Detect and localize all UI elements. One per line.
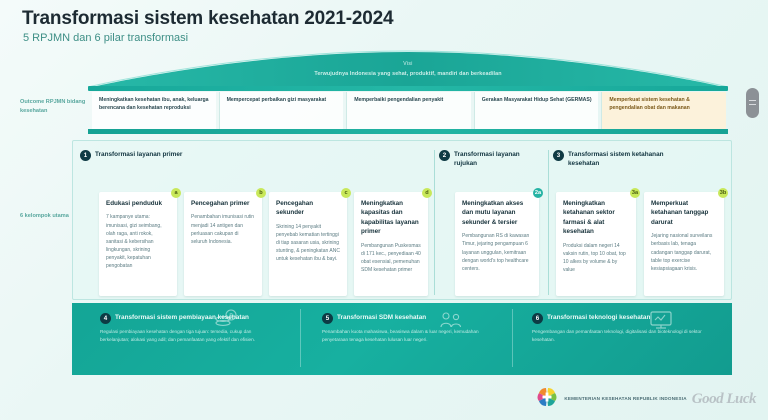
card-badge-2a: 2a xyxy=(533,188,543,198)
card-body-d: Pembangunan Puskesmas di 171 kec., penye… xyxy=(361,242,422,274)
pillar-divider-2 xyxy=(548,150,549,295)
pillar-head-3[interactable]: 3 Transformasi sistem ketahanan kesehata… xyxy=(553,150,678,169)
card-badge-3b: 3b xyxy=(718,188,728,198)
outcome-box-5[interactable]: Memperkuat sistem kesehatan & pengendali… xyxy=(601,92,726,130)
pillar-head-2[interactable]: 2 Transformasi layanan rujukan xyxy=(439,150,544,169)
card-akses-sekunder-tersier[interactable]: 2a Meningkatkan akses dan mutu layanan s… xyxy=(455,192,539,296)
pillar-body-4: Regulasi pembiayaan kesehatan dengan tig… xyxy=(100,328,275,344)
pillar-number-3: 3 xyxy=(553,150,564,161)
bottom-pillar-band: 4 Transformasi sistem pembiayaan kesehat… xyxy=(72,303,732,375)
card-tanggap-darurat[interactable]: 3b Memperkuat ketahanan tanggap darurat … xyxy=(644,192,724,296)
card-body-3b: Jejaring nasional surveilans berbasis la… xyxy=(651,232,718,272)
card-badge-c: c xyxy=(341,188,351,198)
pillar-title-3: Transformasi sistem ketahanan kesehatan xyxy=(568,150,678,169)
scrollbar-thumb[interactable] xyxy=(746,88,759,118)
pillar-6-head: 6 Transformasi teknologi kesehatan xyxy=(532,313,707,324)
pillar-title-1: Transformasi layanan primer xyxy=(95,150,182,159)
pillar-4-head: 4 Transformasi sistem pembiayaan kesehat… xyxy=(100,313,275,324)
card-badge-a: a xyxy=(171,188,181,198)
coin-stack-icon: $ xyxy=(215,309,237,334)
pillar-body-5: Penambahan kuota mahasiswa, beasiswa dal… xyxy=(322,328,497,344)
card-badge-d: d xyxy=(422,188,432,198)
outcome-underline xyxy=(88,129,728,134)
card-title-c: Pencegahan sekunder xyxy=(276,199,341,218)
pillar-number-1: 1 xyxy=(80,150,91,161)
vision-label: Visi xyxy=(88,61,728,67)
pillar-6[interactable]: 6 Transformasi teknologi kesehatan Penge… xyxy=(532,313,707,344)
card-body-a: 7 kampanye utama: imunisasi, gizi seimba… xyxy=(106,213,171,270)
pillar-number-4: 4 xyxy=(100,313,111,324)
ministry-name: KEMENTERIAN KESEHATAN REPUBLIK INDONESIA xyxy=(564,396,686,403)
pillar-5[interactable]: 5 Transformasi SDM kesehatan Penambahan … xyxy=(322,313,497,344)
pillar-title-2: Transformasi layanan rujukan xyxy=(454,150,544,169)
thumb-grip-line xyxy=(749,100,756,101)
outcome-box-2[interactable]: Mempercepat perbaikan gizi masyarakat xyxy=(219,92,344,130)
card-title-3a: Meningkatkan ketahanan sektor farmasi & … xyxy=(563,199,630,237)
pillar-5-head: 5 Transformasi SDM kesehatan xyxy=(322,313,497,324)
card-pencegahan-primer[interactable]: b Pencegahan primer Penambahan imunisasi… xyxy=(184,192,262,296)
bottom-divider-2 xyxy=(512,309,513,367)
card-pencegahan-sekunder[interactable]: c Pencegahan sekunder Skrining 14 penyak… xyxy=(269,192,347,296)
outcome-box-3[interactable]: Memperbaiki pengendalian penyakit xyxy=(346,92,471,130)
card-body-c: Skrining 14 penyakit penyebab kematian t… xyxy=(276,223,341,263)
roof-bar xyxy=(88,86,728,91)
moh-logo-icon xyxy=(535,385,559,414)
card-title-a: Edukasi penduduk xyxy=(106,199,171,208)
card-farmasi-alkes[interactable]: 3a Meningkatkan ketahanan sektor farmasi… xyxy=(556,192,636,296)
svg-text:$: $ xyxy=(229,314,233,320)
outcome-box-4[interactable]: Gerakan Masyarakat Hidup Sehat (GERMAS) xyxy=(474,92,599,130)
vision-statement: Terwujudnya Indonesia yang sehat, produk… xyxy=(118,71,698,77)
card-badge-b: b xyxy=(256,188,266,198)
pillar-title-5: Transformasi SDM kesehatan xyxy=(337,313,426,322)
pillar-4[interactable]: 4 Transformasi sistem pembiayaan kesehat… xyxy=(100,313,275,344)
card-title-3b: Memperkuat ketahanan tanggap darurat xyxy=(651,199,718,227)
page-subtitle: 5 RPJMN dan 6 pilar transformasi xyxy=(23,32,188,44)
card-title-d: Meningkatkan kapasitas dan kapabilitas l… xyxy=(361,199,422,237)
card-body-b: Penambahan imunisasi rutin menjadi 14 an… xyxy=(191,213,256,245)
outcome-box-1[interactable]: Meningkatkan kesehatan ibu, anak, keluar… xyxy=(92,92,216,130)
page-title: Transformasi sistem kesehatan 2021-2024 xyxy=(22,8,393,30)
card-body-3a: Produksi dalam negeri 14 vaksin rutin, t… xyxy=(563,242,630,274)
pillar-head-1[interactable]: 1 Transformasi layanan primer xyxy=(80,150,240,161)
monitor-icon xyxy=(649,310,673,335)
thumb-grip-line xyxy=(749,104,756,105)
pillar-divider-1 xyxy=(434,150,435,295)
pillar-number-2: 2 xyxy=(439,150,450,161)
vision-roof: Visi Terwujudnya Indonesia yang sehat, p… xyxy=(88,50,728,90)
people-group-icon xyxy=(439,311,463,334)
pillar-number-6: 6 xyxy=(532,313,543,324)
roof-shape xyxy=(88,50,728,90)
slide-canvas: Transformasi sistem kesehatan 2021-2024 … xyxy=(0,0,768,420)
footer-branding: KEMENTERIAN KESEHATAN REPUBLIK INDONESIA… xyxy=(535,385,756,414)
rail-label-outcome: Outcome RPJMN bidang kesehatan xyxy=(20,98,86,116)
card-kapasitas-layanan-primer[interactable]: d Meningkatkan kapasitas dan kapabilitas… xyxy=(354,192,428,296)
outcome-row: Meningkatkan kesehatan ibu, anak, keluar… xyxy=(92,92,726,130)
pillar-number-5: 5 xyxy=(322,313,333,324)
bottom-divider-1 xyxy=(300,309,301,367)
card-title-2a: Meningkatkan akses dan mutu layanan seku… xyxy=(462,199,533,227)
pillar-title-6: Transformasi teknologi kesehatan xyxy=(547,313,650,322)
goodluck-wordmark: Good Luck xyxy=(692,393,756,405)
card-edukasi-penduduk[interactable]: a Edukasi penduduk 7 kampanye utama: imu… xyxy=(99,192,177,296)
card-title-b: Pencegahan primer xyxy=(191,199,256,208)
pillar-body-6: Pengembangan dan pemanfaatan teknologi, … xyxy=(532,328,707,344)
card-body-2a: Pembangunan RS di kawasan Timur, jejarin… xyxy=(462,232,533,272)
card-badge-3a: 3a xyxy=(630,188,640,198)
